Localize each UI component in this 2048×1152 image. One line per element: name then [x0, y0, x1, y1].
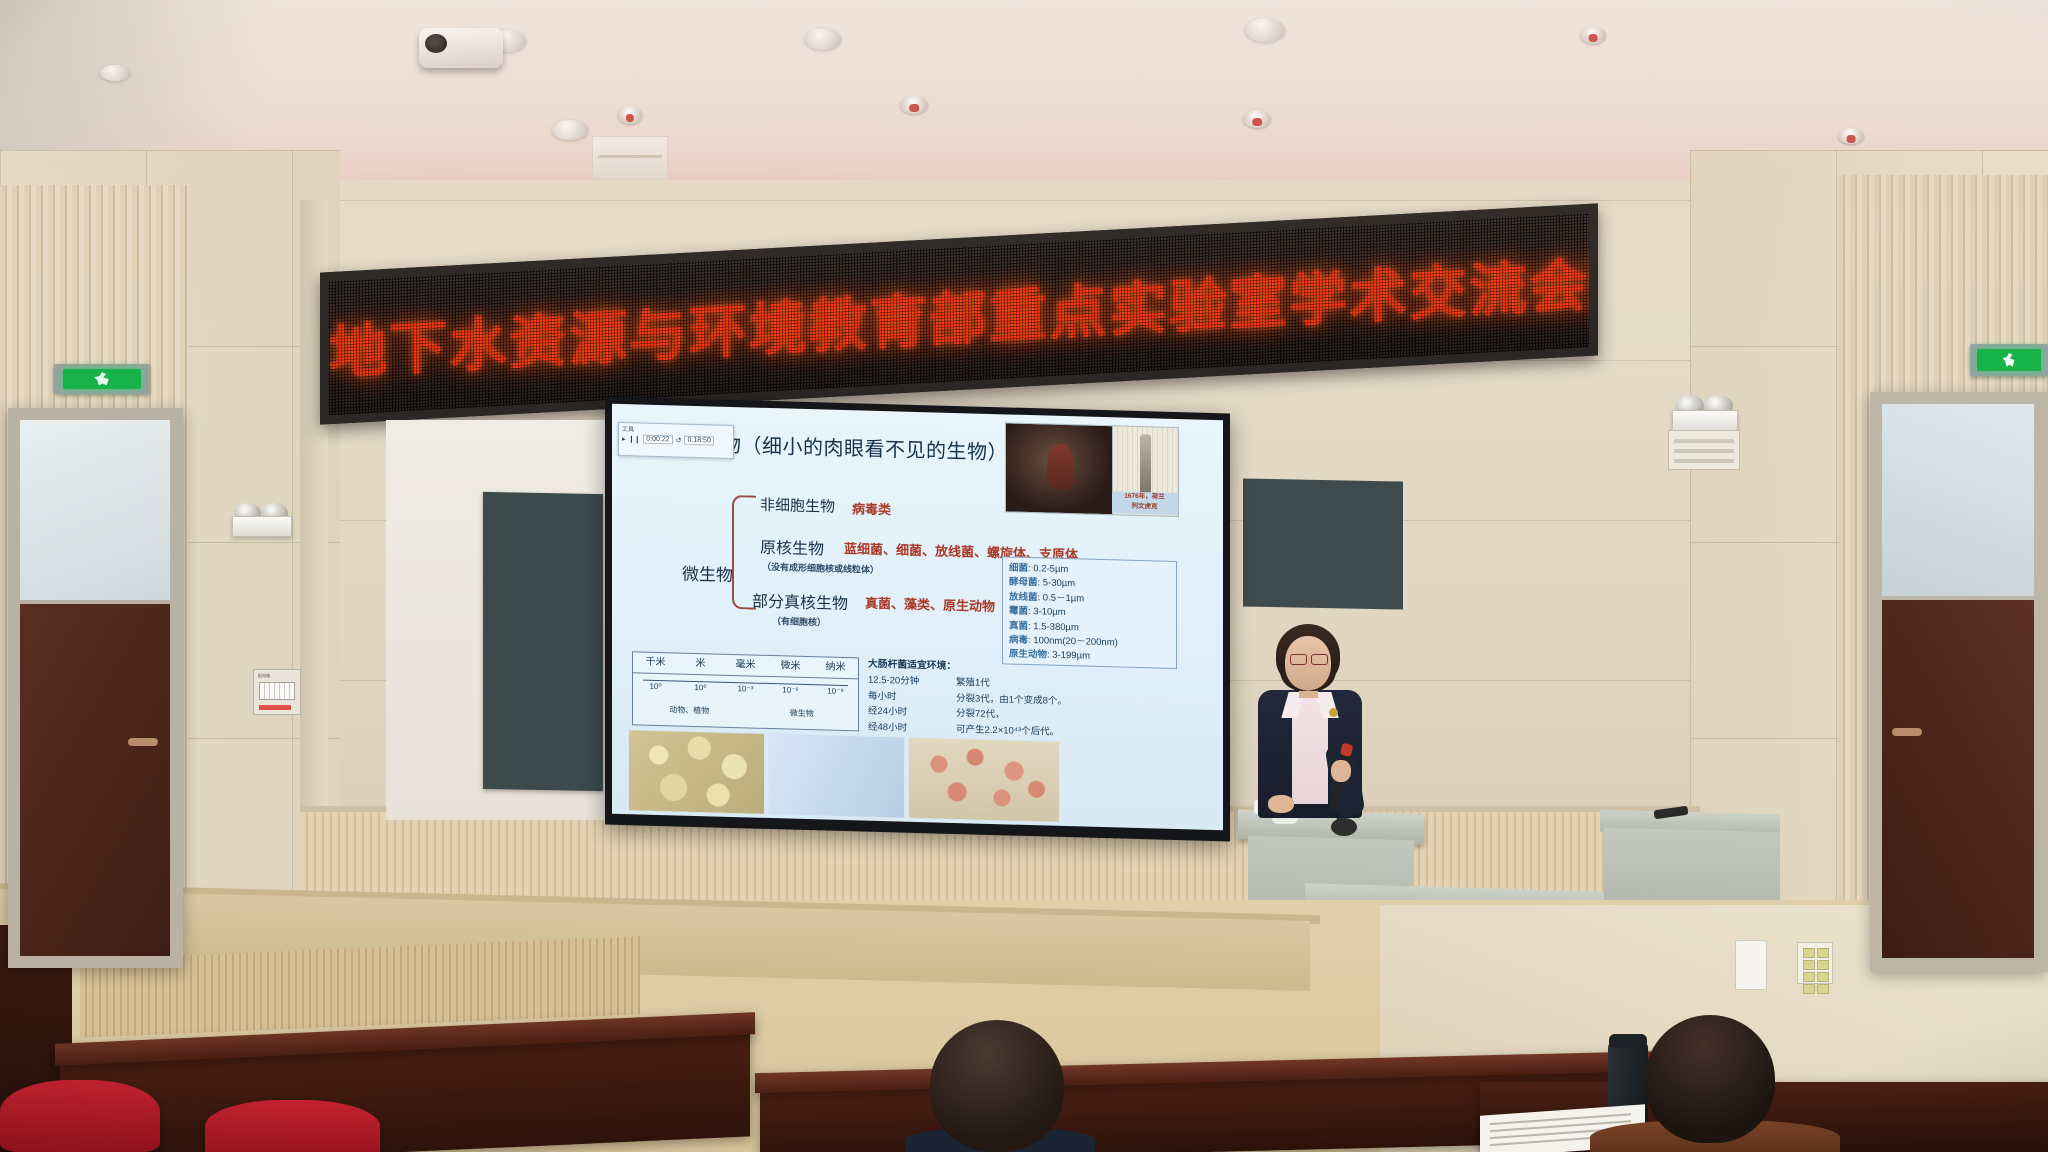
branch-3-name: 部分真核生物 [752, 588, 848, 615]
ecoli-row-2-right: 分裂72代， [956, 706, 1005, 723]
size-value-4: 1.5-380µm [1033, 621, 1079, 633]
scale-exp-2: 10⁻³ [723, 683, 768, 693]
blackboard-panel [483, 492, 603, 791]
smoke-detector-icon [805, 28, 841, 50]
presenter-hand-left [1268, 795, 1294, 813]
audience-member-2 [1645, 1015, 1775, 1143]
rod-bacteria-photo [768, 733, 905, 819]
smoke-detector-icon [1245, 18, 1285, 42]
thermos-cap [1609, 1034, 1647, 1048]
portrait-caption: 1676年，荷兰 列文虎克 [1112, 491, 1177, 515]
door-right-handle[interactable] [1892, 728, 1922, 736]
scale-exp-0: 10⁰ [633, 681, 678, 691]
branch-3-note: （有细胞核） [772, 614, 826, 628]
presenter-shirt [1292, 692, 1328, 804]
presentation-timer-toolbar[interactable]: 工具 ▸ ❙❙ 0:00:22 ↺ 0:18:50 [618, 422, 734, 459]
scale-exp-4: 10⁻⁹ [813, 686, 858, 696]
branch-2-name: 原核生物 [760, 534, 824, 560]
play-icon[interactable]: ▸ [622, 435, 626, 443]
glasses-icon [1290, 654, 1328, 663]
breaker-panel-label: 配电箱 [258, 673, 270, 679]
yeast-cocci-photo [628, 729, 765, 815]
size-label-6: 原生动物 [1009, 649, 1047, 661]
sprinkler-icon [900, 96, 928, 114]
microphone-base [1331, 818, 1357, 836]
auditorium-seat[interactable] [0, 1080, 160, 1152]
emergency-light-left [232, 503, 290, 537]
size-label-2: 放线菌 [1009, 591, 1038, 603]
slide-root-label: 微生物 [682, 560, 733, 586]
scale-footer-right: 微生物 [746, 706, 859, 720]
branch-3-examples: 真菌、藻类、原生动物 [865, 593, 995, 616]
size-value-6: 3-199µm [1052, 650, 1090, 662]
pause-icon[interactable]: ❙❙ [629, 435, 641, 443]
scale-header-4: 纳米 [813, 657, 858, 678]
lecture-hall-photo: 地下水资源与环境教育部重点实验室学术交流会暨世界水日主题活动 微生物（细小的肉眼… [0, 0, 2048, 1152]
portrait-caption-line-2: 列文虎克 [1112, 501, 1177, 513]
door-left-handle[interactable] [128, 738, 158, 746]
size-label-3: 霉菌 [1009, 606, 1028, 618]
scale-header-3: 微米 [768, 656, 813, 677]
wall-control-panel[interactable] [1668, 430, 1740, 470]
ceiling-projector [419, 28, 503, 68]
scale-header-2: 毫米 [723, 655, 768, 676]
ecoli-row-0-right: 繁殖1代 [956, 675, 990, 691]
sprinkler-icon [1243, 110, 1271, 128]
size-value-3: 3-10µm [1033, 606, 1065, 618]
presenter-hand-right [1331, 760, 1351, 782]
branch-1-examples: 病毒类 [852, 498, 891, 518]
scale-exp-3: 10⁻⁶ [768, 684, 813, 694]
door-left-glass [20, 420, 170, 600]
slide-content: 微生物（细小的肉眼看不见的生物） 微生物 非细胞生物 病毒类 原核生物 蓝细菌、… [612, 404, 1223, 831]
scale-footer-left: 动物、植物 [633, 703, 746, 717]
light-switch-plate[interactable] [1797, 942, 1833, 984]
size-label-0: 细菌 [1009, 562, 1028, 574]
scale-table: 千米 米 毫米 微米 纳米 10⁰ 10⁰ 10⁻³ 10⁻⁶ 10⁻⁹ 动物、… [632, 651, 859, 731]
scale-exp-1: 10⁰ [678, 682, 723, 692]
wall-junction-box [1735, 940, 1767, 990]
size-value-0: 0.2-5µm [1033, 563, 1068, 575]
door-left[interactable] [8, 408, 183, 968]
door-left-panel [20, 604, 170, 956]
projection-screen: 微生物（细小的肉眼看不见的生物） 微生物 非细胞生物 病毒类 原核生物 蓝细菌、… [605, 397, 1230, 842]
presenter-badge [1329, 708, 1338, 717]
auditorium-seat[interactable] [205, 1100, 380, 1152]
ecoli-row-3-left: 经48小时 [868, 719, 956, 737]
door-right-panel [1882, 600, 2034, 958]
sprinkler-icon [618, 106, 642, 124]
size-value-5: 100nm(20－200nm) [1033, 635, 1118, 648]
ecoli-row-3-right: 可产生2.2×10⁴³个后代。 [956, 722, 1059, 740]
size-label-4: 真菌 [1009, 620, 1028, 632]
scale-header-1: 米 [678, 654, 723, 675]
breaker-panel[interactable]: 配电箱 [253, 669, 301, 715]
organism-size-box: 细菌: 0.2-5µm 酵母菌: 5-30µm 放线菌: 0.5－1µm 霉菌:… [1002, 556, 1177, 669]
ecoli-growth-text: 大肠杆菌适宜环境： 12.5-20分钟繁殖1代 每小时分裂3代，由1个变成8个。… [868, 657, 1073, 741]
size-label-5: 病毒 [1009, 635, 1028, 647]
branch-1-name: 非细胞生物 [760, 494, 835, 517]
leeuwenhoek-portrait-image [1005, 422, 1114, 515]
branch-2-note: （没有成形细胞核或线粒体） [762, 560, 879, 576]
size-value-1: 5-30µm [1043, 578, 1075, 590]
sprinkler-icon [1838, 128, 1864, 144]
undo-icon[interactable]: ↺ [676, 436, 682, 444]
total-time: 0:18:50 [684, 436, 713, 446]
door-right[interactable] [1870, 392, 2048, 972]
audience-member-1 [930, 1020, 1064, 1152]
door-right-glass [1882, 404, 2034, 596]
ceiling-air-vent [592, 136, 668, 180]
size-value-2: 0.5－1µm [1043, 592, 1084, 604]
scale-header-0: 千米 [633, 652, 678, 673]
smoke-detector-icon [552, 120, 588, 140]
sprinkler-icon [1580, 26, 1606, 44]
elapsed-time: 0:00:22 [643, 435, 672, 445]
size-label-1: 酵母菌 [1009, 577, 1038, 589]
exit-sign-left [54, 364, 150, 394]
smoke-detector-icon [100, 65, 130, 81]
exit-sign-right [1970, 344, 2048, 376]
red-cells-photo [908, 737, 1060, 823]
emergency-light-right [1672, 395, 1736, 433]
blackboard-panel-right [1243, 478, 1403, 609]
